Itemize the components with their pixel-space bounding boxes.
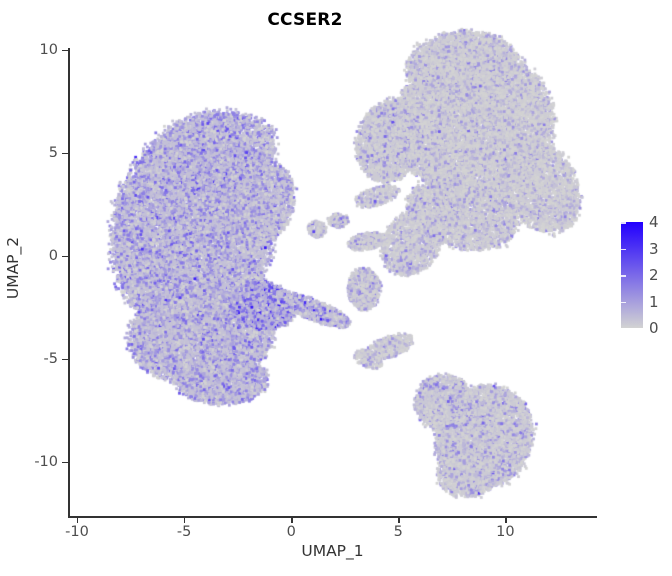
x-axis-line <box>68 516 597 518</box>
umap-feature-plot: CCSER2 -10-50510 -10-50510 UMAP_1 UMAP_2… <box>0 0 672 576</box>
y-axis-line <box>68 48 70 518</box>
y-axis-title: UMAP_2 <box>4 168 22 368</box>
x-tick-mark <box>184 517 185 523</box>
colorbar-tick-label: 3 <box>649 240 659 258</box>
colorbar-tick-mark <box>616 222 621 224</box>
y-tick-mark <box>62 462 68 463</box>
y-tick-label: 0 <box>49 248 58 264</box>
colorbar-tick-mark <box>616 249 621 251</box>
y-tick-mark <box>62 359 68 360</box>
x-tick-mark <box>505 517 506 523</box>
x-tick-label: 0 <box>287 524 296 540</box>
colorbar-tick-mark <box>621 275 626 277</box>
colorbar-tick-label: 0 <box>649 319 659 337</box>
y-tick-mark <box>62 153 68 154</box>
y-tick-label: -10 <box>34 454 58 470</box>
colorbar-tick-mark <box>616 328 621 330</box>
x-tick-label: 10 <box>496 524 514 540</box>
colorbar-tick-mark <box>621 249 626 251</box>
colorbar-tick-mark <box>621 222 626 224</box>
colorbar-tick-label: 4 <box>649 213 659 231</box>
y-tick-label: -5 <box>44 351 58 367</box>
colorbar-tick-mark <box>616 275 621 277</box>
x-tick-label: 5 <box>394 524 403 540</box>
x-tick-label: -10 <box>65 524 89 540</box>
colorbar-tick-mark <box>621 328 626 330</box>
x-tick-mark <box>291 517 292 523</box>
scatter-plot-canvas <box>0 0 672 576</box>
x-tick-label: -5 <box>177 524 191 540</box>
y-tick-label: 5 <box>49 145 58 161</box>
colorbar-tick-label: 2 <box>649 266 659 284</box>
x-tick-mark <box>398 517 399 523</box>
colorbar-tick-mark <box>616 302 621 304</box>
colorbar-tick-label: 1 <box>649 293 659 311</box>
x-axis-title: UMAP_1 <box>68 542 597 560</box>
y-tick-mark <box>62 50 68 51</box>
y-tick-label: 10 <box>40 42 58 58</box>
y-tick-mark <box>62 256 68 257</box>
x-tick-mark <box>77 517 78 523</box>
colorbar-tick-mark <box>621 302 626 304</box>
